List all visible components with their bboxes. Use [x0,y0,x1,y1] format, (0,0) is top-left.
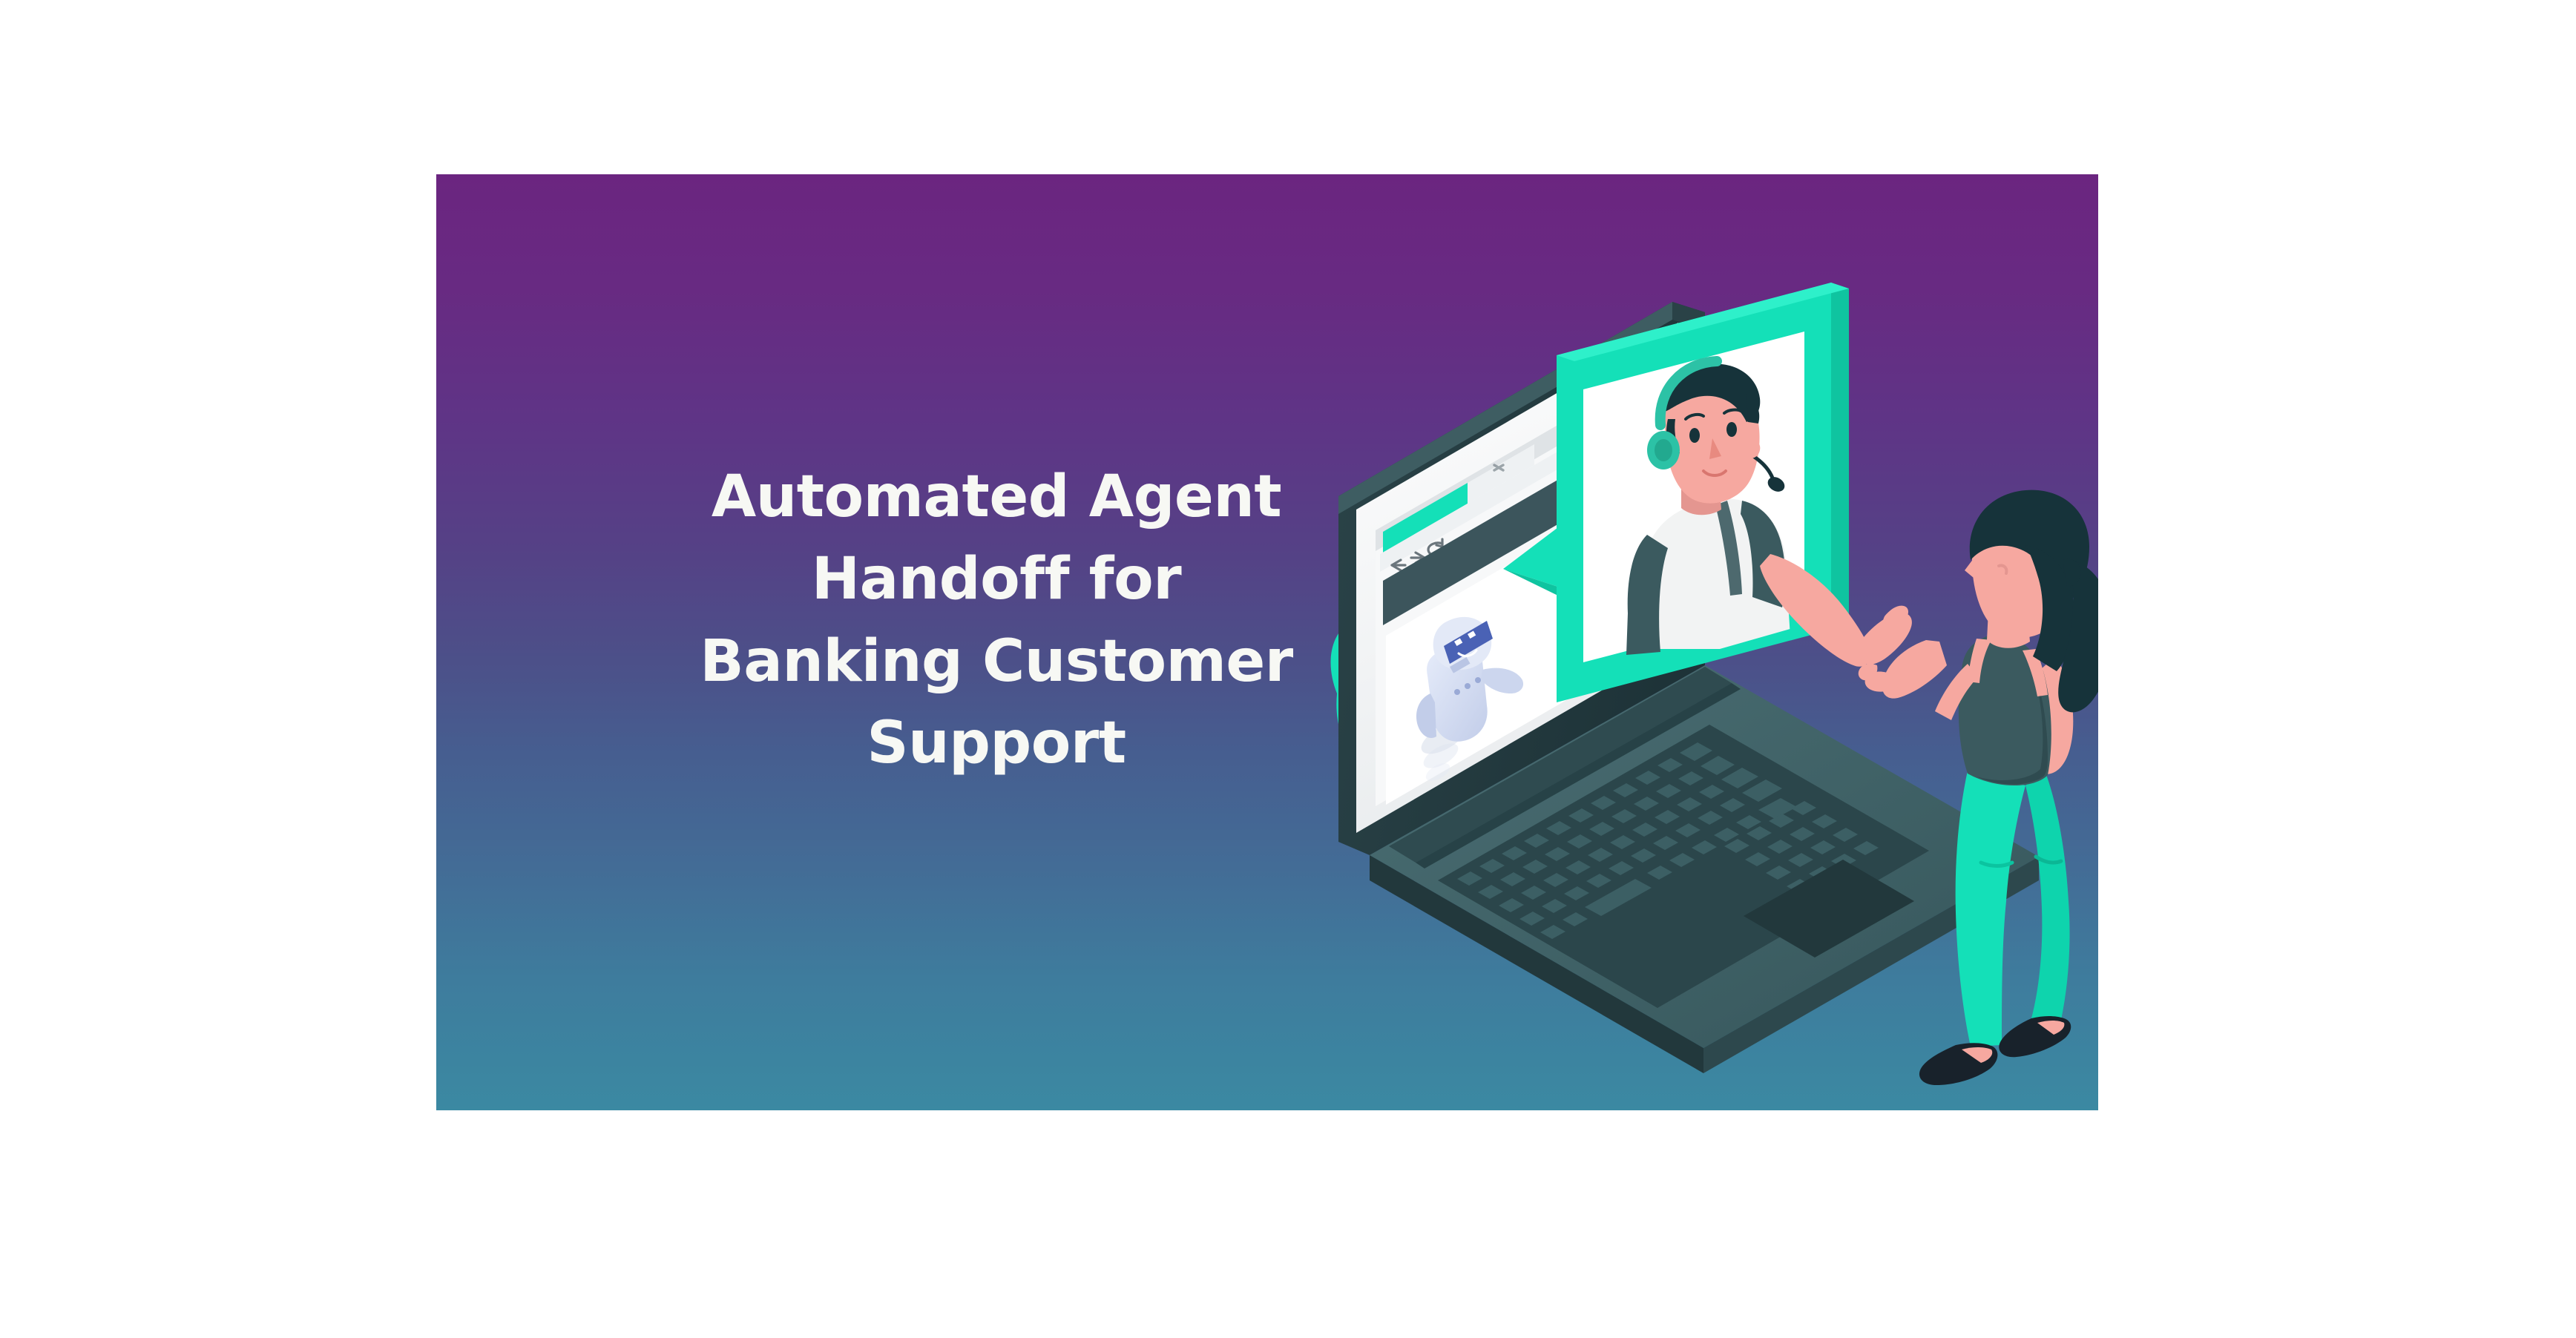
speech-bubble-frame [1503,283,1912,702]
hero-illustration [1312,174,2098,1110]
page-title: Automated Agent Handoff for Banking Cust… [659,456,1334,785]
hero-card: Automated Agent Handoff for Banking Cust… [436,174,2098,1110]
headline-line-4: Support [659,702,1334,785]
headline-line-2: Handoff for [659,538,1334,621]
headline-line-3: Banking Customer [659,621,1334,703]
illustration-svg [1312,174,2098,1110]
headline-line-1: Automated Agent [659,456,1334,538]
page-root: Automated Agent Handoff for Banking Cust… [0,0,2576,1338]
